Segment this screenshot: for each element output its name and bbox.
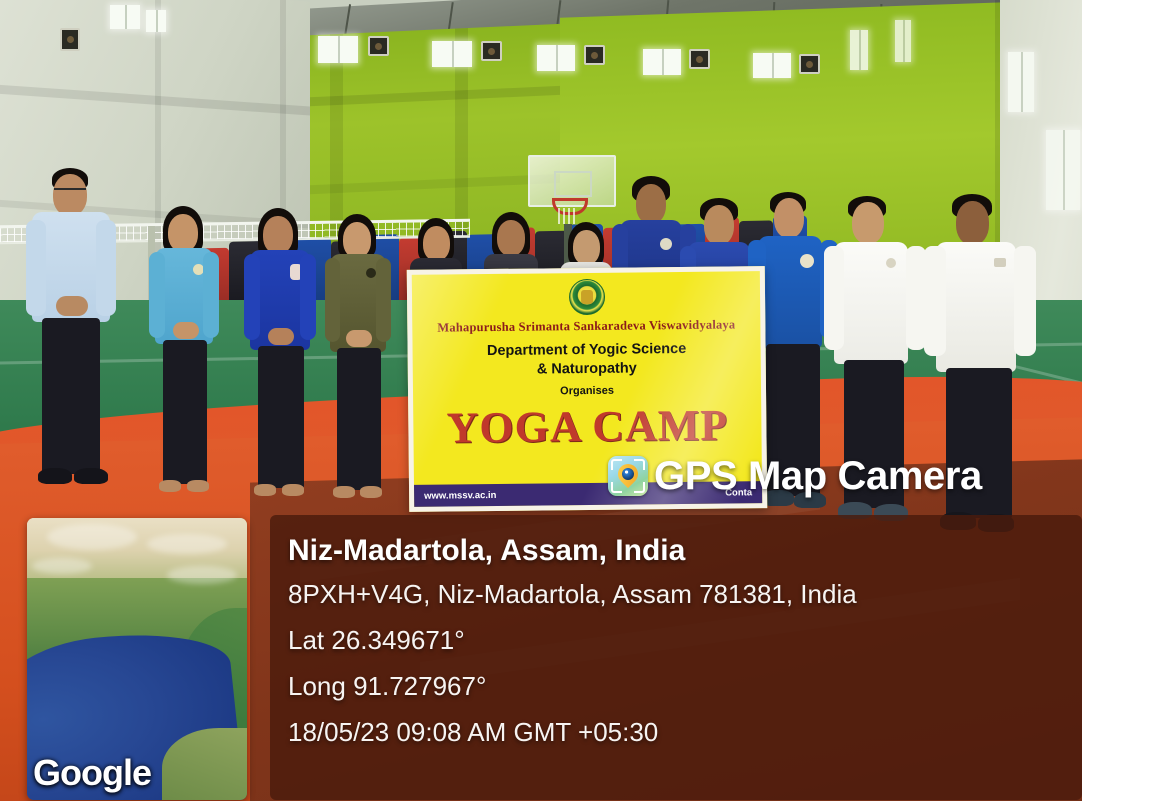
window xyxy=(850,30,868,70)
banner-department: Department of Yogic Science & Naturopath… xyxy=(413,339,761,381)
banner-organises: Organises xyxy=(413,383,761,399)
window xyxy=(432,41,472,67)
speaker xyxy=(60,28,80,51)
window xyxy=(753,53,791,78)
gps-plus-code: 8PXH+V4G, Niz-Madartola, Assam 781381, I… xyxy=(288,571,1064,617)
window xyxy=(895,20,911,62)
gps-info-card: Niz-Madartola, Assam, India 8PXH+V4G, Ni… xyxy=(270,515,1082,800)
gps-latitude: Lat 26.349671° xyxy=(288,617,1064,663)
speaker xyxy=(368,36,389,56)
window xyxy=(1046,130,1080,210)
window xyxy=(643,49,681,75)
banner-university-name: Mahapurusha Srimanta Sankaradeva Viswavi… xyxy=(412,317,760,336)
photo-canvas: Mahapurusha Srimanta Sankaradeva Viswavi… xyxy=(0,0,1082,801)
speaker xyxy=(799,54,820,74)
banner-website: www.mssv.ac.in xyxy=(424,489,496,501)
gps-address: Niz-Madartola, Assam, India xyxy=(288,531,1064,571)
window xyxy=(110,5,140,29)
gps-longitude: Long 91.727967° xyxy=(288,663,1064,709)
window xyxy=(318,36,358,63)
banner-department-line2: & Naturopathy xyxy=(413,358,761,381)
map-thumbnail[interactable]: Google xyxy=(27,518,247,800)
gps-map-camera-app-icon xyxy=(608,456,648,496)
speaker xyxy=(481,41,502,61)
google-watermark: Google xyxy=(33,752,151,794)
screenshot-root: Mahapurusha Srimanta Sankaradeva Viswavi… xyxy=(0,0,1152,806)
speaker xyxy=(689,49,710,69)
basketball-net xyxy=(558,208,576,224)
speaker xyxy=(584,45,605,65)
gps-brand-text: GPS Map Camera xyxy=(654,456,982,496)
gps-timestamp: 18/05/23 09:08 AM GMT +05:30 xyxy=(288,709,1064,755)
window xyxy=(146,10,166,32)
window xyxy=(537,45,575,71)
banner-title: YOGA CAMP xyxy=(413,399,762,454)
window xyxy=(1008,52,1034,112)
camera-lens-icon xyxy=(622,468,634,480)
gps-map-camera-watermark: GPS Map Camera xyxy=(608,456,982,496)
university-emblem-icon xyxy=(569,279,605,315)
